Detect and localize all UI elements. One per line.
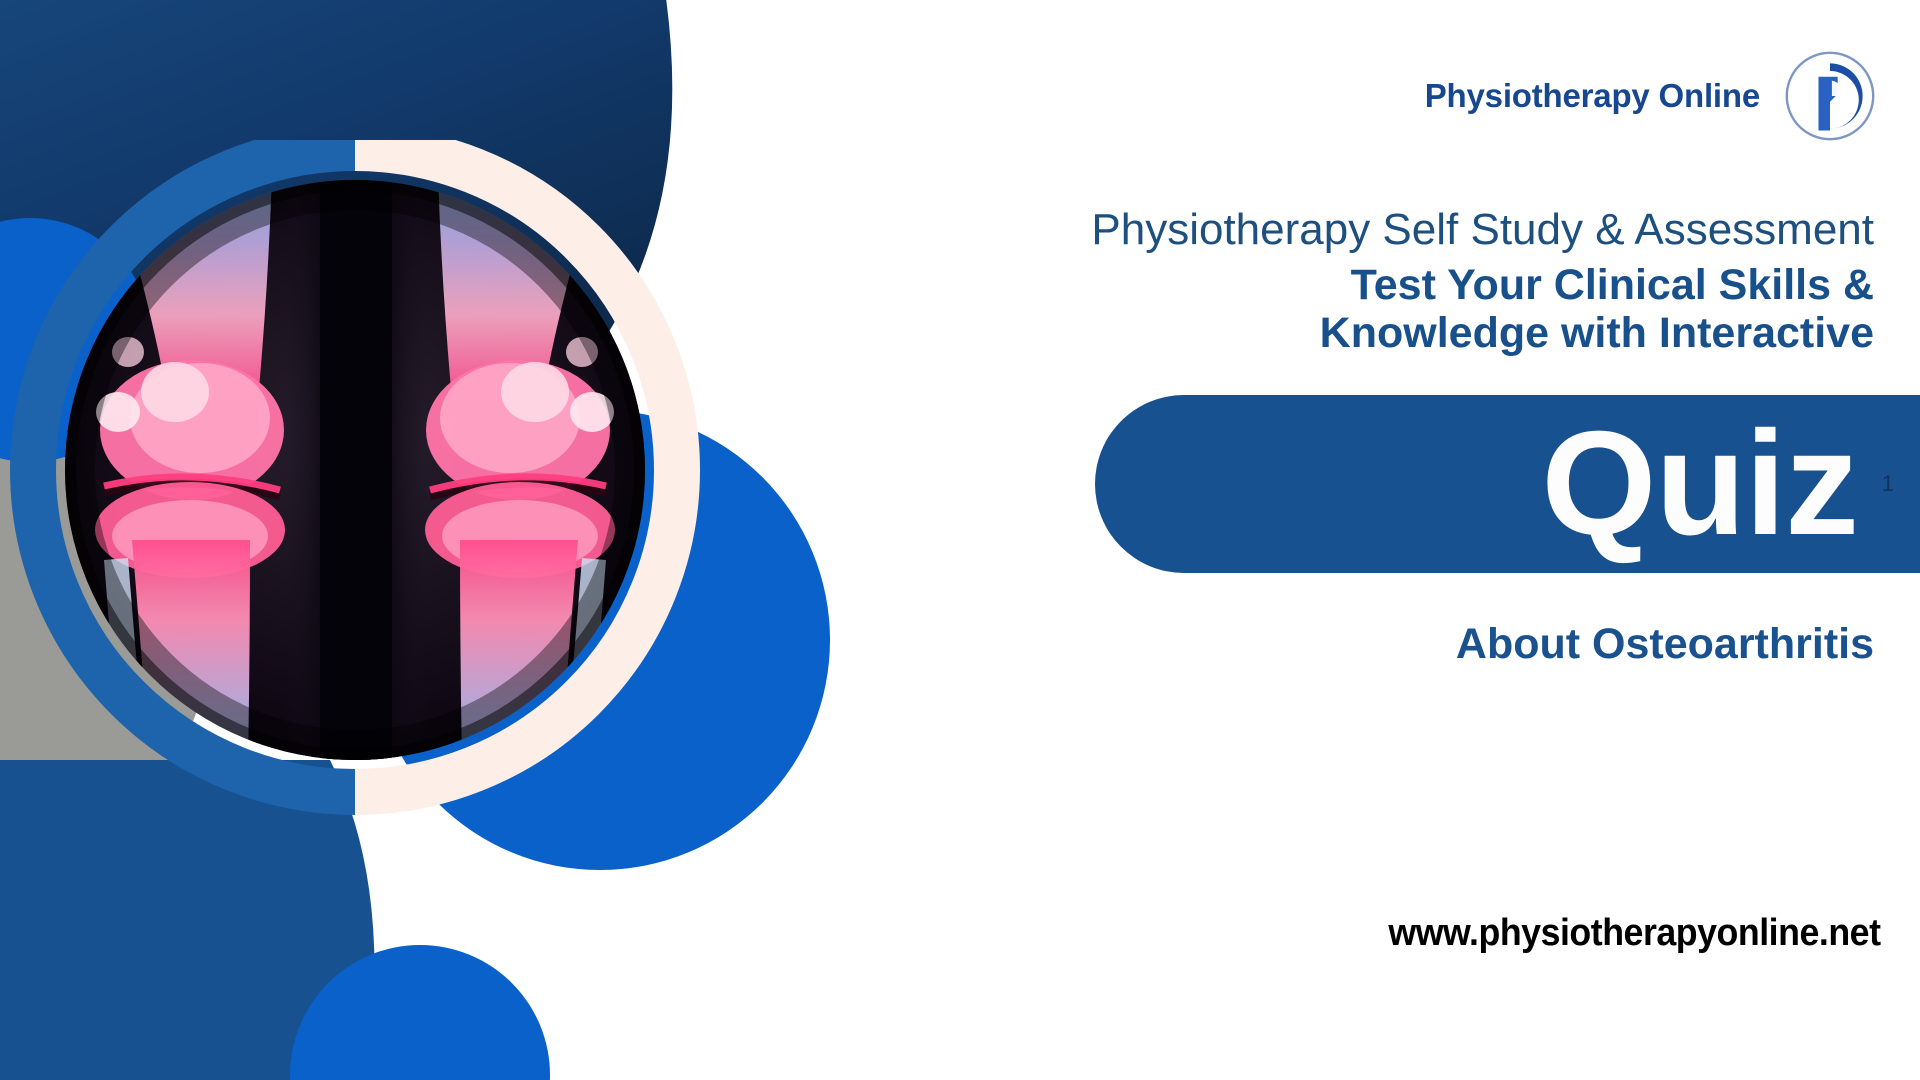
brand-name: Physiotherapy Online: [1425, 77, 1760, 115]
hero-graphic: [0, 0, 960, 1080]
slide-canvas: Physiotherapy Online Physiotherapy Self …: [0, 0, 1920, 1080]
quiz-banner: Quiz 1: [1095, 395, 1920, 573]
website-url: www.physiotherapyonline.net: [1388, 912, 1880, 955]
headline-line-2: Test Your Clinical Skills &: [994, 261, 1874, 309]
headline-block: Physiotherapy Self Study & Assessment Te…: [994, 205, 1874, 358]
circular-p-logo-icon: [1782, 48, 1878, 144]
hero-graphic-svg: [0, 0, 960, 1080]
headline-line-1: Physiotherapy Self Study & Assessment: [994, 205, 1874, 254]
content-panel: Physiotherapy Online Physiotherapy Self …: [960, 0, 1920, 1080]
headline-line-3: Knowledge with Interactive: [994, 309, 1874, 357]
quiz-label: Quiz: [1095, 395, 1920, 573]
quiz-subject: About Osteoarthritis: [1456, 620, 1874, 669]
quiz-superscript-number: 1: [1882, 473, 1894, 495]
brand-header: Physiotherapy Online: [1425, 48, 1878, 144]
